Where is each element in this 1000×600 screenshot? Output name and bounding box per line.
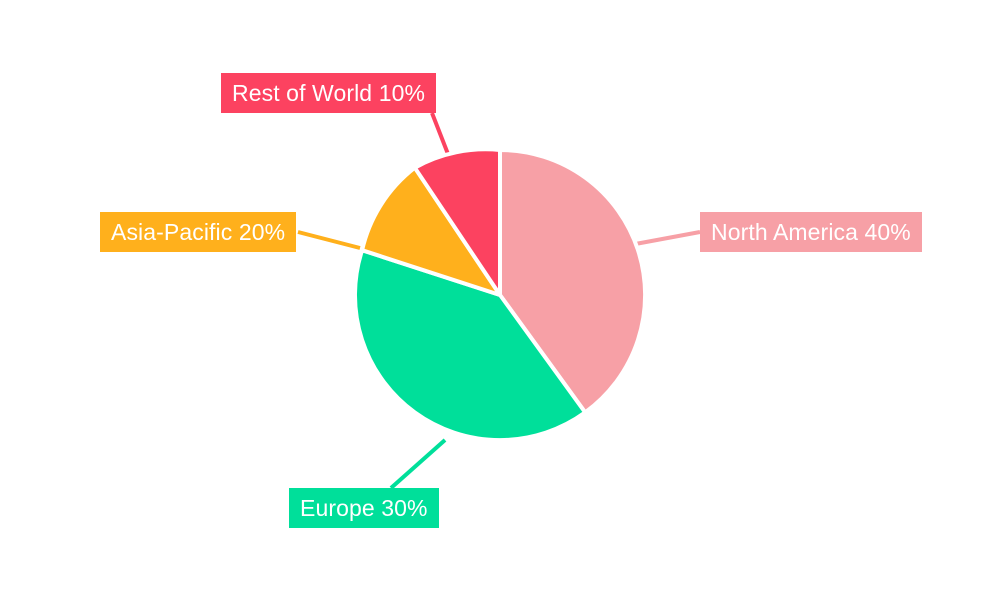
slice-label-asia-pacific[interactable]: Asia-Pacific 20% xyxy=(100,212,296,252)
slice-label-rest-of-world[interactable]: Rest of World 10% xyxy=(221,73,436,113)
leader-line-europe xyxy=(391,440,445,488)
slice-label-europe[interactable]: Europe 30% xyxy=(289,488,439,528)
slice-label-north-america[interactable]: North America 40% xyxy=(700,212,922,252)
pie-chart-canvas xyxy=(0,0,1000,600)
pie-slices xyxy=(355,149,645,440)
leader-line-asia-pacific xyxy=(298,232,360,248)
pie-chart-figure: North America 40% Europe 30% Asia-Pacifi… xyxy=(0,0,1000,600)
